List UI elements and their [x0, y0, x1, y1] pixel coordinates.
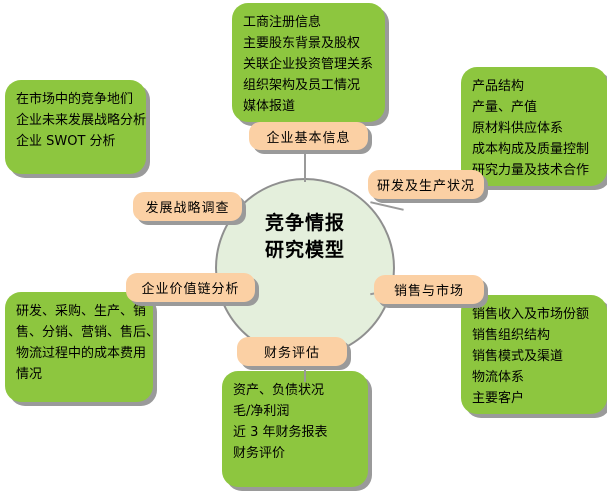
detail-panel-value-chain: 研发、采购、生产、销 售、分销、营销、售后、 物流过程中的成本费用 情况 — [5, 292, 153, 402]
detail-line: 组织架构及员工情况 — [243, 75, 374, 96]
detail-line: 销售收入及市场份额 — [472, 304, 596, 325]
category-label-strategy-survey[interactable]: 发展战略调查 — [133, 192, 242, 221]
detail-line: 近 3 年财务报表 — [233, 422, 357, 443]
category-label-value-chain[interactable]: 企业价值链分析 — [126, 273, 255, 302]
detail-line: 工商注册信息 — [243, 12, 374, 33]
detail-line: 物流过程中的成本费用 — [16, 343, 142, 364]
detail-panel-rnd-production: 产品结构 产量、产值 原材料供应体系 成本构成及质量控制 研究力量及技术合作 — [461, 67, 607, 186]
category-label-financial-assessment[interactable]: 财务评估 — [237, 337, 347, 366]
detail-line: 媒体报道 — [243, 96, 374, 117]
detail-panel-sales-market: 销售收入及市场份额 销售组织结构 销售模式及渠道 物流体系 主要客户 — [461, 295, 607, 414]
detail-line: 企业未来发展战略分析 — [16, 110, 135, 131]
detail-line: 资产、负债状况 — [233, 380, 357, 401]
detail-line: 物流体系 — [472, 367, 596, 388]
detail-line: 研究力量及技术合作 — [472, 160, 596, 181]
detail-panel-basic-info: 工商注册信息 主要股东背景及股权 关联企业投资管理关系 组织架构及员工情况 媒体… — [232, 3, 385, 122]
detail-line: 主要客户 — [472, 388, 596, 409]
detail-line: 产量、产值 — [472, 97, 596, 118]
diagram-canvas: 竞争情报 研究模型 工商注册信息 主要股东背景及股权 关联企业投资管理关系 组织… — [0, 0, 607, 497]
detail-line: 在市场中的竞争地们 — [16, 89, 135, 110]
detail-line: 销售组织结构 — [472, 325, 596, 346]
detail-line: 产品结构 — [472, 76, 596, 97]
center-circle — [215, 178, 395, 358]
detail-line: 主要股东背景及股权 — [243, 33, 374, 54]
detail-line: 财务评价 — [233, 443, 357, 464]
center-title: 竞争情报 研究模型 — [215, 210, 395, 264]
category-label-sales-market[interactable]: 销售与市场 — [374, 275, 484, 304]
detail-line: 售、分销、营销、售后、 — [16, 322, 142, 343]
detail-line: 毛/净利润 — [233, 401, 357, 422]
detail-panel-strategy-survey: 在市场中的竞争地们 企业未来发展战略分析 企业 SWOT 分析 — [5, 80, 146, 174]
category-label-rnd-production[interactable]: 研发及生产状况 — [368, 170, 484, 199]
detail-line: 关联企业投资管理关系 — [243, 54, 374, 75]
detail-line: 研发、采购、生产、销 — [16, 301, 142, 322]
detail-line: 原材料供应体系 — [472, 118, 596, 139]
connector-top — [304, 150, 306, 182]
detail-line: 企业 SWOT 分析 — [16, 131, 135, 152]
category-label-basic-info[interactable]: 企业基本信息 — [249, 122, 368, 150]
detail-line: 销售模式及渠道 — [472, 346, 596, 367]
detail-line: 成本构成及质量控制 — [472, 139, 596, 160]
detail-panel-financial-assessment: 资产、负债状况 毛/净利润 近 3 年财务报表 财务评价 — [222, 371, 368, 487]
detail-line: 情况 — [16, 364, 142, 385]
